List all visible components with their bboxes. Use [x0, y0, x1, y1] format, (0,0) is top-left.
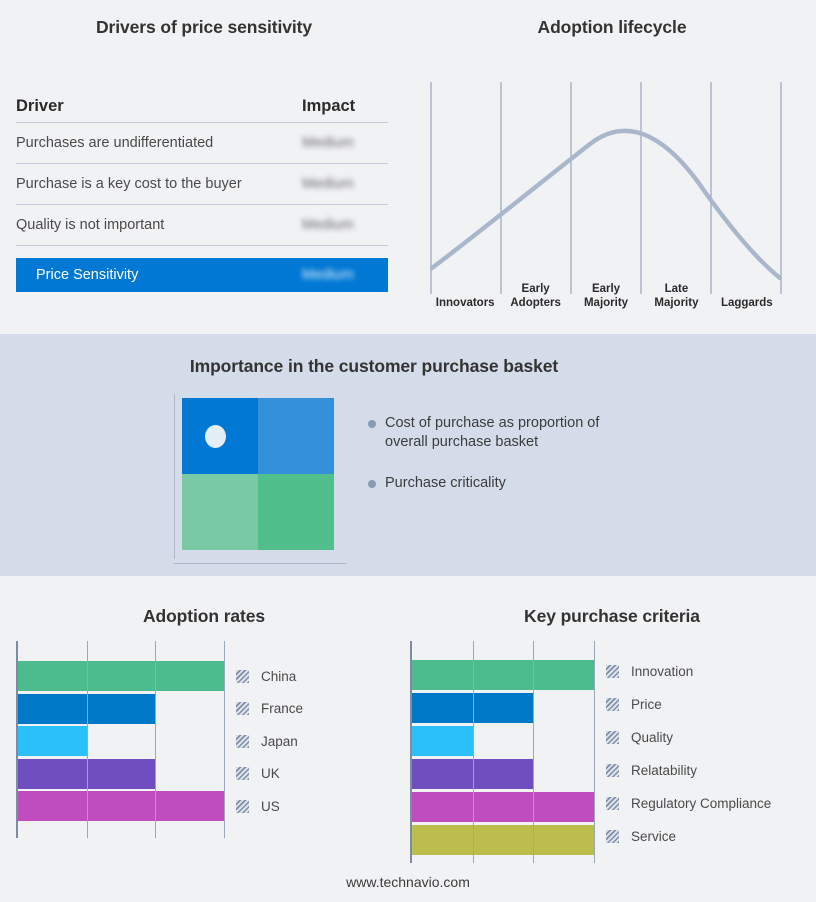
quadrant-top-right: [258, 398, 334, 474]
hatch-swatch-icon: [606, 830, 619, 843]
stage-label-laggards: Laggards: [712, 283, 782, 310]
drivers-table-header-row: Driver Impact: [16, 90, 388, 123]
legend-item: Quality: [606, 721, 771, 754]
legend-label: Japan: [261, 734, 298, 749]
legend-item: Japan: [236, 725, 303, 758]
legend-item: Regulatory Compliance: [606, 787, 771, 820]
legend-item: Cost of purchase as proportion of overal…: [368, 414, 668, 452]
quadrant-bottom-right: [258, 474, 334, 550]
lifecycle-curve-svg: [430, 82, 782, 312]
legend-item: France: [236, 693, 303, 726]
bar-row: [412, 693, 594, 723]
table-row: Quality is not important Medium: [16, 205, 388, 246]
driver-label: Purchase is a key cost to the buyer: [16, 176, 302, 192]
quadrant-top-left: [182, 398, 258, 474]
bar-row: [412, 726, 594, 756]
bar-row: [412, 792, 594, 822]
price-sensitivity-summary-row: Price Sensitivity Medium: [16, 258, 388, 292]
column-header-impact: Impact: [302, 97, 388, 116]
legend-label: France: [261, 701, 303, 716]
hatch-swatch-icon: [606, 665, 619, 678]
quadrant-x-axis: [174, 563, 346, 564]
stage-label-late-majority: Late Majority: [641, 283, 711, 310]
key-purchase-criteria-bars: [412, 660, 594, 858]
stage-line-2: Laggards: [712, 297, 782, 311]
drivers-table: Driver Impact Purchases are undifferenti…: [16, 90, 388, 292]
summary-impact-value: Medium: [302, 267, 388, 283]
lifecycle-gridlines: [431, 82, 781, 294]
bar-row: [18, 791, 224, 821]
stage-line-2: Majority: [641, 297, 711, 311]
hatch-swatch-icon: [236, 767, 249, 780]
bar-row: [18, 759, 224, 789]
legend-label: Quality: [631, 730, 673, 745]
hatch-swatch-icon: [606, 764, 619, 777]
bar-row: [18, 661, 224, 691]
legend-label: US: [261, 799, 280, 814]
infographic-page: Drivers of price sensitivity Driver Impa…: [0, 0, 816, 902]
key-purchase-criteria-chart: [410, 641, 592, 863]
bar-row: [412, 759, 594, 789]
legend-label: Purchase criticality: [385, 474, 506, 493]
bar-china: [18, 661, 224, 691]
stage-label-innovators: Innovators: [430, 283, 500, 310]
column-header-driver: Driver: [16, 97, 302, 116]
adoption-rates-bars: [18, 661, 224, 824]
legend-label: Relatability: [631, 763, 697, 778]
summary-label: Price Sensitivity: [36, 267, 302, 283]
stage-line-1: Late: [641, 283, 711, 297]
legend-item: Purchase criticality: [368, 474, 668, 493]
stage-line-1: [430, 283, 500, 297]
bar-row: [412, 825, 594, 855]
legend-item: UK: [236, 758, 303, 791]
stage-label-early-majority: Early Majority: [571, 283, 641, 310]
driver-label: Quality is not important: [16, 217, 302, 233]
gridline: [155, 641, 156, 838]
hatch-swatch-icon: [606, 797, 619, 810]
quadrant-y-axis: [174, 394, 175, 559]
key-purchase-criteria-plot-area: [410, 641, 594, 863]
legend-label: Price: [631, 697, 662, 712]
bar-row: [18, 694, 224, 724]
stage-line-2: Majority: [571, 297, 641, 311]
bar-regulatory-compliance: [412, 792, 594, 822]
table-row: Purchases are undifferentiated Medium: [16, 123, 388, 164]
bar-service: [412, 825, 594, 855]
driver-label: Purchases are undifferentiated: [16, 135, 302, 151]
adoption-rates-plot-area: [16, 641, 224, 838]
gridline: [87, 641, 88, 838]
legend-item: Price: [606, 688, 771, 721]
impact-value: Medium: [302, 135, 388, 151]
lifecycle-stage-labels: Innovators Early Adopters Early Majority…: [430, 283, 782, 310]
stage-line-2: Adopters: [500, 297, 570, 311]
adoption-lifecycle-chart: Innovators Early Adopters Early Majority…: [430, 82, 782, 312]
stage-line-2: Innovators: [430, 297, 500, 311]
hatch-swatch-icon: [236, 702, 249, 715]
footer-url: www.technavio.com: [0, 874, 816, 890]
purchase-basket-quadrant-chart: [174, 394, 348, 564]
key-purchase-criteria-legend: InnovationPriceQualityRelatabilityRegula…: [606, 655, 771, 853]
hatch-swatch-icon: [236, 735, 249, 748]
bar-quality: [412, 726, 473, 756]
bar-us: [18, 791, 224, 821]
quadrant-grid: [182, 398, 334, 550]
purchase-basket-legend: Cost of purchase as proportion of overal…: [368, 414, 668, 515]
legend-item: Service: [606, 820, 771, 853]
stage-line-1: Early: [571, 283, 641, 297]
quadrant-bottom-left: [182, 474, 258, 550]
gridline: [533, 641, 534, 863]
adoption-rates-legend: ChinaFranceJapanUKUS: [236, 660, 303, 823]
hatch-swatch-icon: [606, 698, 619, 711]
bullet-icon: [368, 420, 376, 428]
stage-line-1: Early: [500, 283, 570, 297]
legend-item: US: [236, 790, 303, 823]
impact-value: Medium: [302, 217, 388, 233]
gridline: [473, 641, 474, 863]
legend-item: Relatability: [606, 754, 771, 787]
lifecycle-bell-curve: [432, 131, 780, 278]
hatch-swatch-icon: [606, 731, 619, 744]
bar-row: [18, 726, 224, 756]
adoption-rates-panel-title: Adoption rates: [0, 606, 408, 627]
legend-label: China: [261, 669, 296, 684]
legend-label: Innovation: [631, 664, 693, 679]
stage-label-early-adopters: Early Adopters: [500, 283, 570, 310]
legend-label: Cost of purchase as proportion of overal…: [385, 414, 645, 452]
hatch-swatch-icon: [236, 670, 249, 683]
purchase-basket-panel-title: Importance in the customer purchase bask…: [0, 356, 748, 377]
legend-label: Regulatory Compliance: [631, 796, 771, 811]
gridline: [224, 641, 225, 838]
legend-label: UK: [261, 766, 280, 781]
bullet-icon: [368, 480, 376, 488]
bar-japan: [18, 726, 87, 756]
impact-value: Medium: [302, 176, 388, 192]
legend-label: Service: [631, 829, 676, 844]
drivers-panel-title: Drivers of price sensitivity: [0, 17, 408, 38]
adoption-rates-chart: [16, 641, 222, 838]
bar-innovation: [412, 660, 594, 690]
hatch-swatch-icon: [236, 800, 249, 813]
legend-item: Innovation: [606, 655, 771, 688]
legend-item: China: [236, 660, 303, 693]
table-row: Purchase is a key cost to the buyer Medi…: [16, 164, 388, 205]
gridline: [594, 641, 595, 863]
stage-line-1: [712, 283, 782, 297]
lifecycle-panel-title: Adoption lifecycle: [408, 17, 816, 38]
quadrant-marker-dot: [205, 425, 226, 448]
bar-row: [412, 660, 594, 690]
